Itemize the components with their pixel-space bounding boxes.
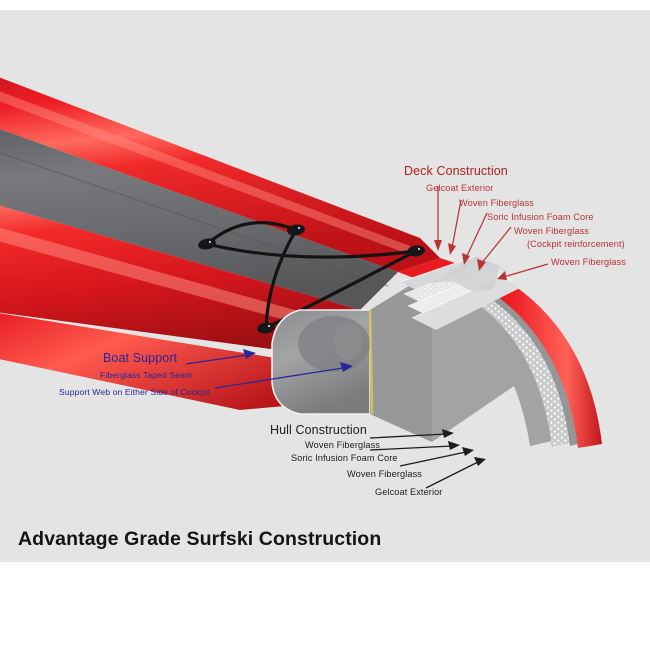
arrow-hull-woven-2	[400, 452, 466, 466]
hull-label-woven-fiberglass-2: Woven Fiberglass	[347, 470, 422, 480]
support-label-support-web: Support Web on Either Side of Cockpit	[59, 388, 210, 397]
arrow-deck-woven-reinf	[481, 227, 511, 264]
hull-arrowheads	[442, 429, 486, 466]
hull-label-woven-fiberglass-1: Woven Fiberglass	[305, 441, 380, 451]
diagram-canvas: Deck Construction Gelcoat Exterior Woven…	[0, 0, 650, 650]
deck-construction-heading: Deck Construction	[404, 165, 508, 178]
illustration-panel: Deck Construction Gelcoat Exterior Woven…	[0, 10, 650, 562]
deck-label-woven-fiberglass-1: Woven Fiberglass	[459, 199, 534, 209]
hull-construction-heading: Hull Construction	[270, 424, 367, 437]
arrow-deck-woven-2	[500, 264, 548, 278]
deck-label-cockpit-reinforcement: (Cockpit reinforcement)	[527, 240, 625, 250]
arrow-hull-soric	[370, 446, 452, 450]
deck-label-soric-foam-core: Soric Infusion Foam Core	[487, 213, 594, 223]
deck-label-woven-fiberglass-2: Woven Fiberglass	[514, 227, 589, 237]
support-label-taped-seam: Fiberglass Taped Seam	[100, 371, 192, 380]
page-title: Advantage Grade Surfski Construction	[18, 528, 381, 551]
deck-label-woven-fiberglass-3: Woven Fiberglass	[551, 258, 626, 268]
cockpit-cutaway	[272, 310, 370, 414]
arrow-deck-soric	[466, 213, 487, 258]
deck-label-gelcoat-exterior: Gelcoat Exterior	[426, 184, 493, 194]
boat-support-heading: Boat Support	[103, 352, 177, 365]
cockpit-footwell	[334, 324, 362, 360]
hull-label-soric-foam-core: Soric Infusion Foam Core	[291, 454, 398, 464]
arrow-hull-gelcoat	[426, 462, 478, 488]
hull-label-gelcoat-exterior: Gelcoat Exterior	[375, 488, 442, 498]
surfski-cutaway-illustration	[0, 10, 650, 562]
